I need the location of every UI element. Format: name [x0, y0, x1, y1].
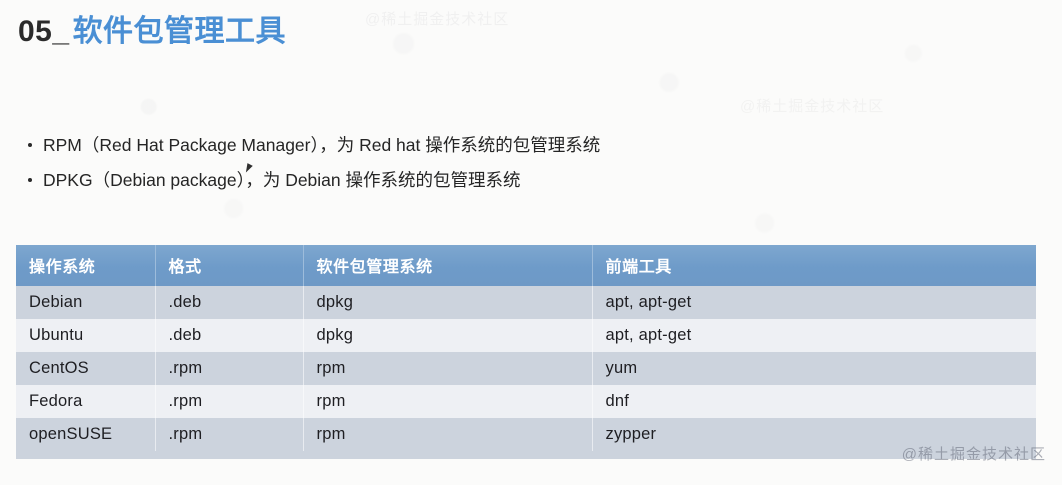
- table-header-row: 操作系统 格式 软件包管理系统 前端工具: [16, 245, 1036, 286]
- cell-format: .deb: [155, 319, 303, 352]
- cell-os: Debian: [16, 286, 155, 319]
- page-title: 05_软件包管理工具: [18, 17, 286, 47]
- cell-pms: rpm: [303, 385, 592, 418]
- list-item-label: DPKG（Debian package），为 Debian 操作系统的包管理系统: [43, 168, 521, 193]
- cell-frontend: yum: [592, 352, 1036, 385]
- page-title-number: 05_: [18, 15, 70, 48]
- watermark: @稀土掘金技术社区: [902, 443, 1046, 464]
- bullet-dot-icon: [28, 178, 32, 182]
- cell-frontend: apt, apt-get: [592, 286, 1036, 319]
- package-manager-table: 操作系统 格式 软件包管理系统 前端工具 Debian .deb dpkg ap…: [16, 245, 1036, 451]
- cell-os: Ubuntu: [16, 319, 155, 352]
- table-row: Fedora .rpm rpm dnf: [16, 385, 1036, 418]
- bullet-dot-icon: [28, 143, 32, 147]
- list-item-label: RPM（Red Hat Package Manager），为 Red hat 操…: [43, 133, 600, 158]
- cell-frontend: dnf: [592, 385, 1036, 418]
- column-header-frontend: 前端工具: [592, 245, 1036, 286]
- table-row: Ubuntu .deb dpkg apt, apt-get: [16, 319, 1036, 352]
- column-header-pms: 软件包管理系统: [303, 245, 592, 286]
- cell-os: CentOS: [16, 352, 155, 385]
- table-row: openSUSE .rpm rpm zypper: [16, 418, 1036, 451]
- cell-pms: dpkg: [303, 319, 592, 352]
- bullet-list: RPM（Red Hat Package Manager），为 Red hat 操…: [28, 133, 1008, 204]
- cell-pms: rpm: [303, 352, 592, 385]
- cell-format: .rpm: [155, 418, 303, 451]
- table-row: CentOS .rpm rpm yum: [16, 352, 1036, 385]
- list-item: RPM（Red Hat Package Manager），为 Red hat 操…: [28, 133, 1008, 158]
- cell-pms: rpm: [303, 418, 592, 451]
- cell-os: Fedora: [16, 385, 155, 418]
- watermark-ghost: @稀土掘金技术社区: [740, 95, 884, 116]
- cell-frontend: apt, apt-get: [592, 319, 1036, 352]
- cell-format: .rpm: [155, 352, 303, 385]
- table-row: Debian .deb dpkg apt, apt-get: [16, 286, 1036, 319]
- cell-format: .rpm: [155, 385, 303, 418]
- cell-format: .deb: [155, 286, 303, 319]
- column-header-os: 操作系统: [16, 245, 155, 286]
- list-item: DPKG（Debian package），为 Debian 操作系统的包管理系统: [28, 168, 1008, 193]
- watermark-ghost: @稀土掘金技术社区: [365, 8, 509, 29]
- column-header-format: 格式: [155, 245, 303, 286]
- page-title-text: 软件包管理工具: [73, 15, 287, 48]
- cell-os: openSUSE: [16, 418, 155, 451]
- cell-pms: dpkg: [303, 286, 592, 319]
